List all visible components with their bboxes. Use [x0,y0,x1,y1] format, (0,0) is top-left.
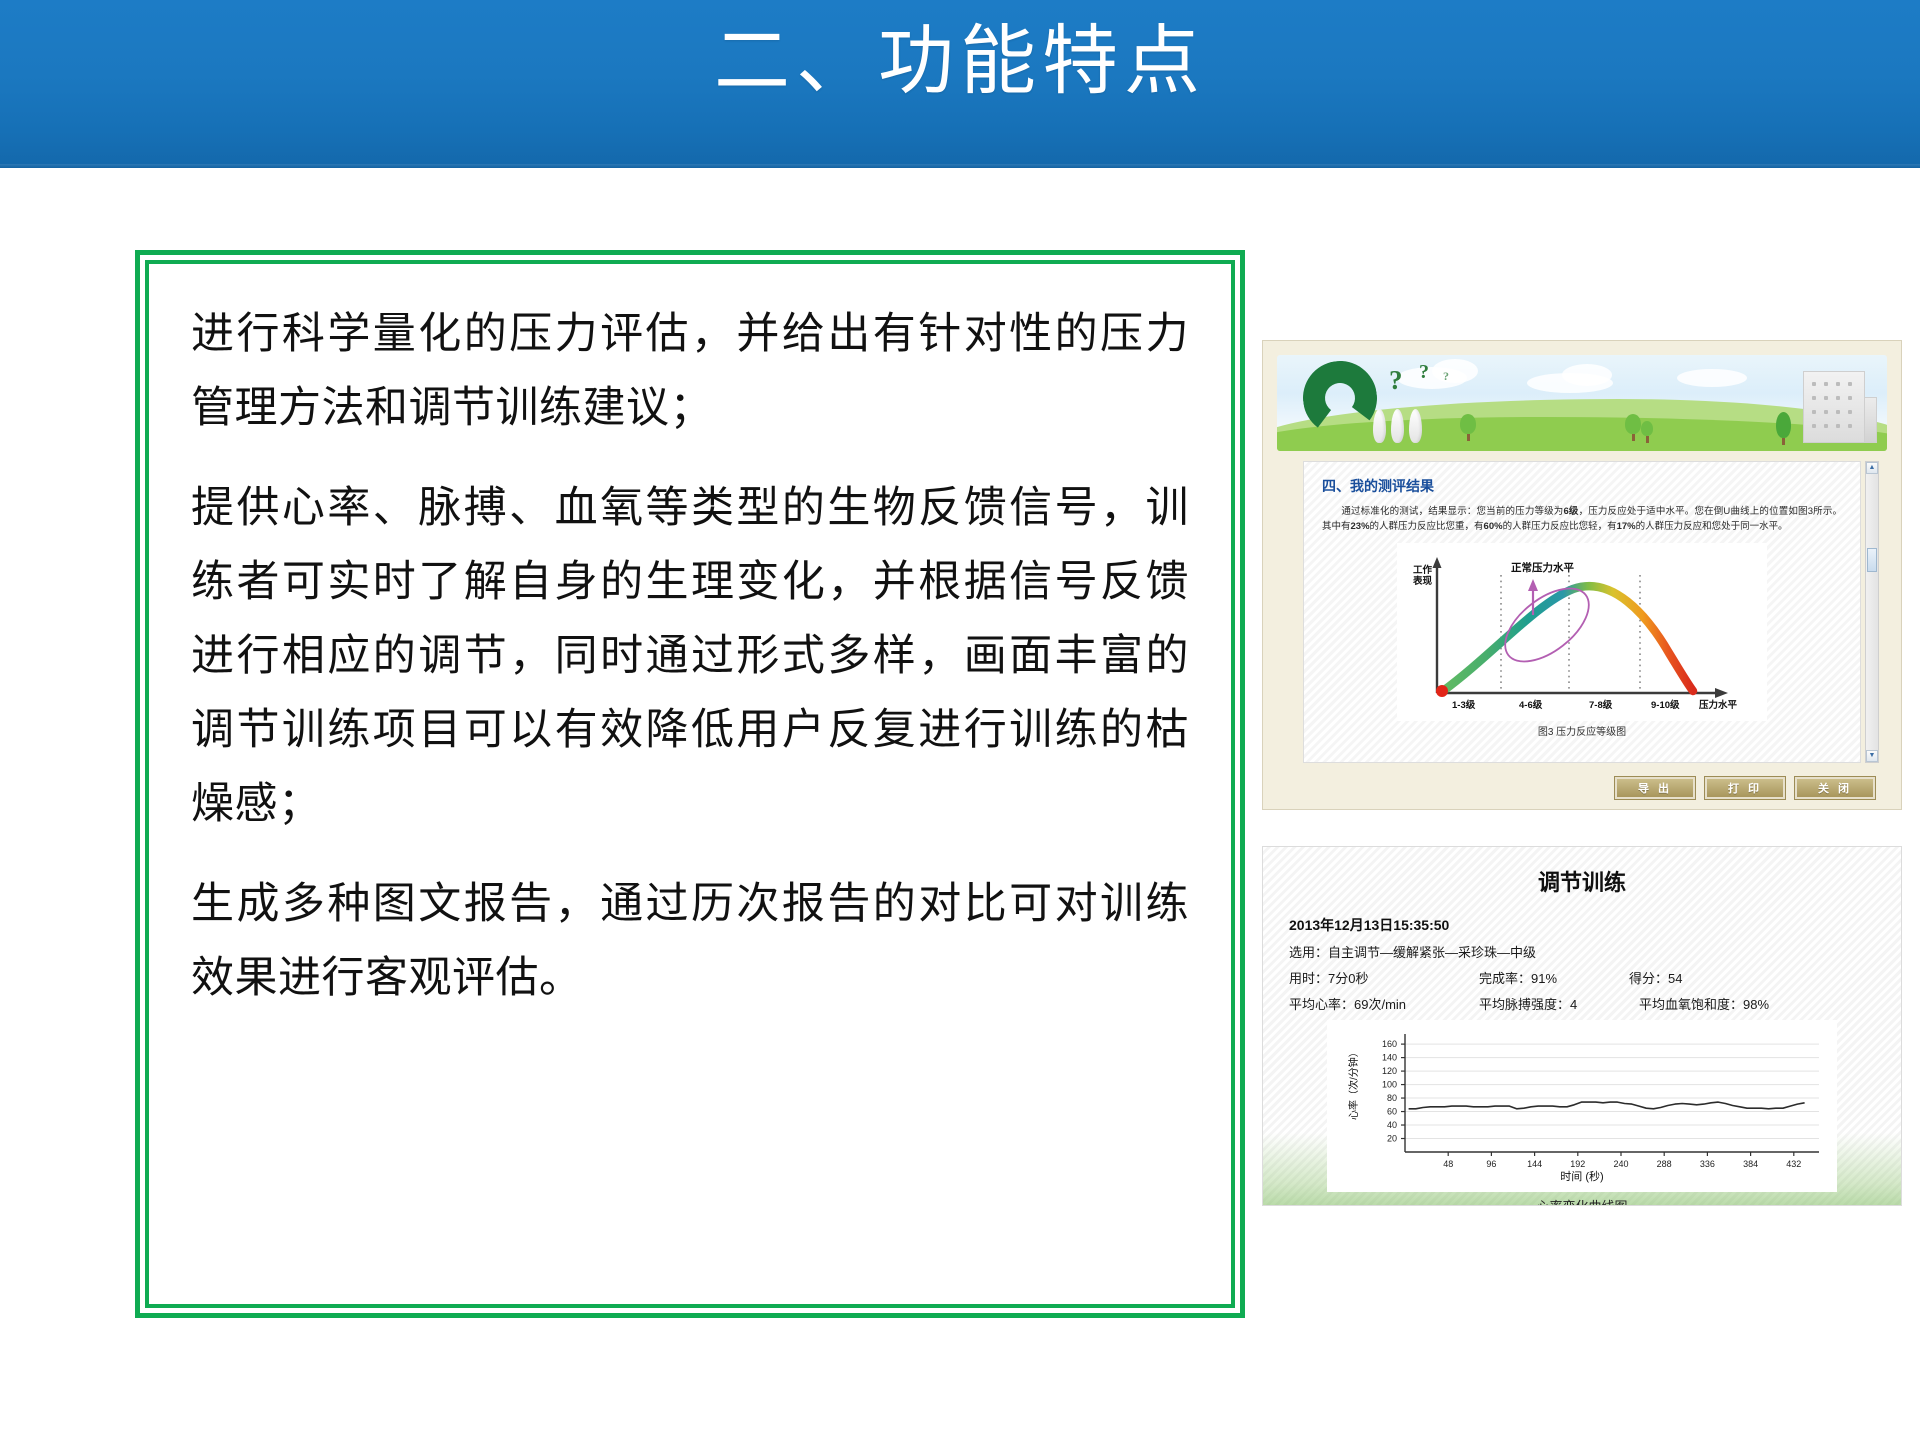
svg-text:正常压力水平: 正常压力水平 [1511,561,1574,574]
svg-text:336: 336 [1700,1159,1715,1169]
svg-text:7-8级: 7-8级 [1589,699,1613,711]
training-program-label: 选用：自主调节—缓解紧张—采珍珠—中级 [1289,942,1536,961]
scroll-down-arrow-icon[interactable]: ▼ [1866,750,1878,762]
export-button[interactable]: 导 出 [1615,777,1695,799]
tree-icon [1460,414,1476,441]
stress-curve-svg: 工作 表现 正常压力水平 1-3级 4-6级 7-8级 9-10级 压力水平 [1397,543,1767,721]
question-mark-icon: ? [1419,361,1429,384]
tree-icon [1625,414,1641,441]
svg-text:4-6级: 4-6级 [1519,699,1543,711]
bowling-pin-icon [1409,409,1422,443]
content-card-frame: 进行科学量化的压力评估，并给出有针对性的压力管理方法和调节训练建议； 提供心率、… [135,250,1245,1318]
heart-rate-svg: 20406080100120140160 4896144192240288336… [1327,1020,1837,1192]
building-icon [1803,371,1865,443]
svg-text:240: 240 [1613,1159,1628,1169]
cloud-icon [1562,364,1612,386]
report-section-title: 四、我的测评结果 [1322,476,1842,496]
svg-text:144: 144 [1527,1159,1542,1169]
svg-text:384: 384 [1743,1159,1758,1169]
svg-text:160: 160 [1382,1039,1397,1049]
training-metrics-row-2: 平均心率：69次/min 平均脉搏强度：4 平均血氧饱和度：98% [1289,994,1875,1013]
training-datetime: 2013年12月13日15:35:50 [1289,915,1875,935]
cloud-icon [1677,369,1747,387]
svg-text:表现: 表现 [1412,575,1433,587]
question-mark-icon: ? [1389,365,1403,396]
svg-text:40: 40 [1387,1120,1397,1130]
stress-response-curve-chart: 工作 表现 正常压力水平 1-3级 4-6级 7-8级 9-10级 压力水平 [1397,543,1767,721]
cloud-icon [1432,359,1478,383]
svg-text:工作: 工作 [1413,564,1433,576]
svg-text:96: 96 [1486,1159,1496,1169]
bowling-pin-icon [1391,409,1404,443]
heart-rate-x-axis-label: 时间 (秒) [1560,1169,1603,1183]
svg-text:192: 192 [1570,1159,1585,1169]
svg-text:压力水平: 压力水平 [1699,699,1738,711]
screenshot-column: ? ? ? [1262,340,1902,1206]
feature-paragraph-3: 生成多种图文报告，通过历次报告的对比可对训练效果进行客观评估。 [191,868,1189,1016]
svg-text:432: 432 [1786,1159,1801,1169]
svg-text:48: 48 [1443,1159,1453,1169]
training-record-window: 调节训练 2013年12月13日15:35:50 选用：自主调节—缓解紧张—采珍… [1262,846,1902,1206]
report-scrollbar[interactable]: ▲ ▼ [1865,461,1879,763]
metric-completion: 完成率：91% [1479,968,1629,987]
tree-icon [1776,412,1791,445]
metric-avg-pulse-strength: 平均脉搏强度：4 [1479,994,1639,1013]
svg-text:80: 80 [1387,1093,1397,1103]
page-title: 二、功能特点 [0,18,1920,105]
content-card-inner: 进行科学量化的压力评估，并给出有针对性的压力管理方法和调节训练建议； 提供心率、… [145,260,1235,1308]
svg-text:120: 120 [1382,1066,1397,1076]
training-program-line: 选用：自主调节—缓解紧张—采珍珠—中级 [1289,942,1875,961]
svg-text:100: 100 [1382,1080,1397,1090]
report-header-illustration: ? ? ? [1277,355,1887,451]
heart-rate-chart: 20406080100120140160 4896144192240288336… [1327,1020,1837,1192]
svg-text:1-3级: 1-3级 [1452,699,1476,711]
report-summary-text: 通过标准化的测试，结果显示：您当前的压力等级为6级，压力反应处于适中水平。您在倒… [1322,504,1842,535]
question-mark-icon: ? [1443,369,1449,384]
feature-paragraph-2: 提供心率、脉搏、血氧等类型的生物反馈信号，训练者可实时了解自身的生理变化，并根据… [191,472,1189,842]
feature-paragraph-1: 进行科学量化的压力评估，并给出有针对性的压力管理方法和调节训练建议； [191,298,1189,446]
tree-icon [1641,421,1653,443]
slide-header-banner: 二、功能特点 [0,0,1920,168]
svg-text:60: 60 [1387,1107,1397,1117]
stress-chart-caption: 图3 压力反应等级图 [1322,723,1842,738]
svg-text:140: 140 [1382,1053,1397,1063]
report-content-area: 四、我的测评结果 通过标准化的测试，结果显示：您当前的压力等级为6级，压力反应处… [1303,461,1861,763]
report-button-bar: 导 出 打 印 关 闭 [1615,777,1875,799]
print-button[interactable]: 打 印 [1705,777,1785,799]
heart-rate-y-axis-label: 心率（次/分钟） [1347,1047,1360,1120]
scrollbar-thumb[interactable] [1867,548,1877,572]
assessment-report-window: ? ? ? [1262,340,1902,810]
bowling-pin-icon [1373,409,1386,443]
metric-avg-spo2: 平均血氧饱和度：98% [1639,994,1769,1013]
svg-text:20: 20 [1387,1134,1397,1144]
metric-avg-heart-rate: 平均心率：69次/min [1289,994,1479,1013]
metric-duration: 用时：7分0秒 [1289,968,1479,987]
svg-text:288: 288 [1657,1159,1672,1169]
metric-score: 得分：54 [1629,968,1682,987]
training-panel-title: 调节训练 [1289,865,1875,897]
scroll-up-arrow-icon[interactable]: ▲ [1866,462,1878,474]
heart-rate-chart-caption: 心率变化曲线图 [1289,1196,1875,1206]
svg-text:9-10级: 9-10级 [1651,699,1680,711]
training-metrics-row-1: 用时：7分0秒 完成率：91% 得分：54 [1289,968,1875,987]
close-button[interactable]: 关 闭 [1795,777,1875,799]
